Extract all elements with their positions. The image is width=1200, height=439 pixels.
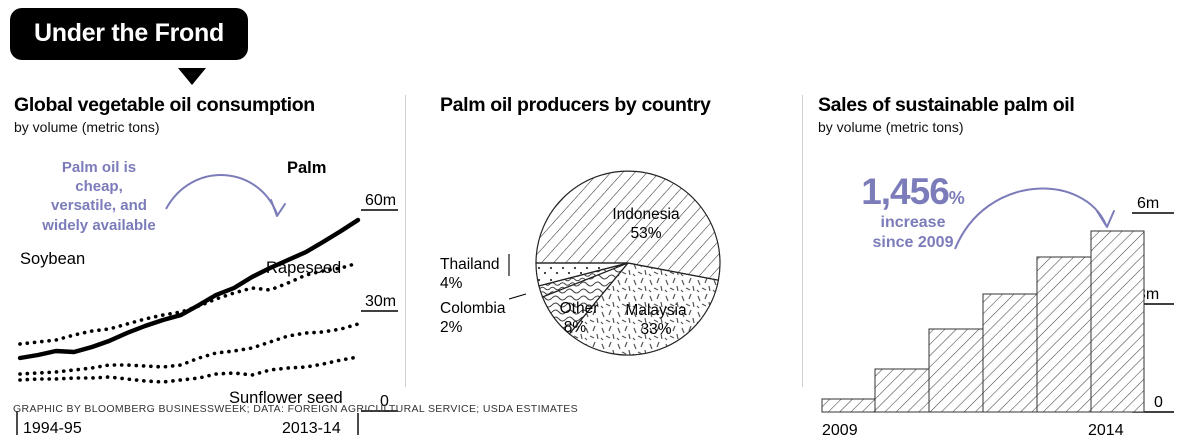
line-chart-title: Global vegetable oil consumption: [14, 95, 399, 117]
pie-label-colombia: Colombia: [440, 300, 506, 317]
bar-stat-sub-line1: increase: [881, 214, 946, 231]
panel-divider-2: [802, 95, 803, 387]
pie-value-malaysia: 33%: [640, 321, 671, 338]
bar-chart-subtitle: by volume (metric tons): [818, 119, 1188, 136]
pie-chart-title: Palm oil producers by country: [440, 95, 790, 117]
panel-bar-chart: Sales of sustainable palm oil by volume …: [818, 95, 1188, 395]
line-x-label-end: 2013-14: [282, 420, 341, 437]
line-annotation-text: Palm oil is cheap, versatile, and widely…: [28, 158, 170, 235]
pie-label-malaysia: Malaysia: [625, 302, 687, 319]
line-chart-y-axis: 60m 30m 0: [361, 192, 398, 411]
pie-chart-svg: Indonesia 53% Malaysia 33% Other 8% Thai…: [440, 133, 790, 413]
bar-series: [822, 231, 1144, 412]
line-annotation-line-3: versatile, and: [51, 197, 147, 214]
infographic-root: Under the Frond Global vegetable oil con…: [0, 0, 1200, 426]
line-series-rapeseed: [20, 324, 358, 374]
bar-y-tick-0: 0: [1154, 394, 1163, 411]
panel-line-chart: Global vegetable oil consumption by volu…: [14, 95, 399, 395]
pie-value-colombia: 2%: [440, 319, 463, 336]
bar-2012: [983, 294, 1037, 412]
line-annotation-arrow-icon: [166, 175, 285, 216]
bar-2013: [1037, 257, 1091, 412]
pie-value-indonesia: 53%: [630, 225, 661, 242]
pie-label-indonesia: Indonesia: [612, 206, 680, 223]
line-annotation-line-1: Palm oil is: [62, 159, 136, 176]
bar-stat-number: 1,456: [861, 171, 949, 212]
line-y-tick-30m: 30m: [365, 293, 396, 310]
pie-label-other: Other: [560, 300, 599, 317]
line-x-label-start: 1994-95: [23, 420, 82, 437]
line-y-tick-60m: 60m: [365, 192, 396, 209]
bar-2010: [875, 369, 929, 412]
bar-2014: [1091, 231, 1144, 412]
pie-label-thailand: Thailand: [440, 256, 499, 273]
kicker-badge: Under the Frond: [10, 8, 248, 60]
bar-stat-sub-line2: since 2009: [873, 234, 954, 251]
bar-y-tick-6m: 6m: [1137, 195, 1159, 212]
kicker-tail-icon: [178, 68, 206, 85]
bar-x-label-end: 2014: [1088, 422, 1124, 439]
pie-leader-colombia: [509, 294, 526, 299]
panel-pie-chart: Palm oil producers by country: [440, 95, 790, 395]
line-series-label-soybean: Soybean: [20, 250, 85, 268]
bar-annotation-stat: 1,456% increase since 2009: [838, 173, 988, 252]
line-chart-subtitle: by volume (metric tons): [14, 119, 399, 136]
pie-value-thailand: 4%: [440, 275, 463, 292]
bar-chart-title: Sales of sustainable palm oil: [818, 95, 1188, 117]
panel-divider-1: [405, 95, 406, 387]
line-annotation-line-4: widely available: [42, 217, 155, 234]
bar-stat-unit: %: [949, 188, 965, 208]
pie-value-other: 8%: [564, 319, 587, 336]
line-series-label-palm: Palm: [287, 159, 326, 177]
line-annotation-line-2: cheap,: [75, 178, 123, 195]
bar-2011: [929, 329, 983, 412]
credit-line: GRAPHIC BY BLOOMBERG BUSINESSWEEK; DATA:…: [13, 403, 578, 415]
bar-2009: [822, 399, 875, 412]
line-series-label-rapeseed: Rapeseed: [266, 259, 341, 277]
kicker-label: Under the Frond: [34, 19, 224, 47]
bar-x-label-start: 2009: [822, 422, 858, 439]
